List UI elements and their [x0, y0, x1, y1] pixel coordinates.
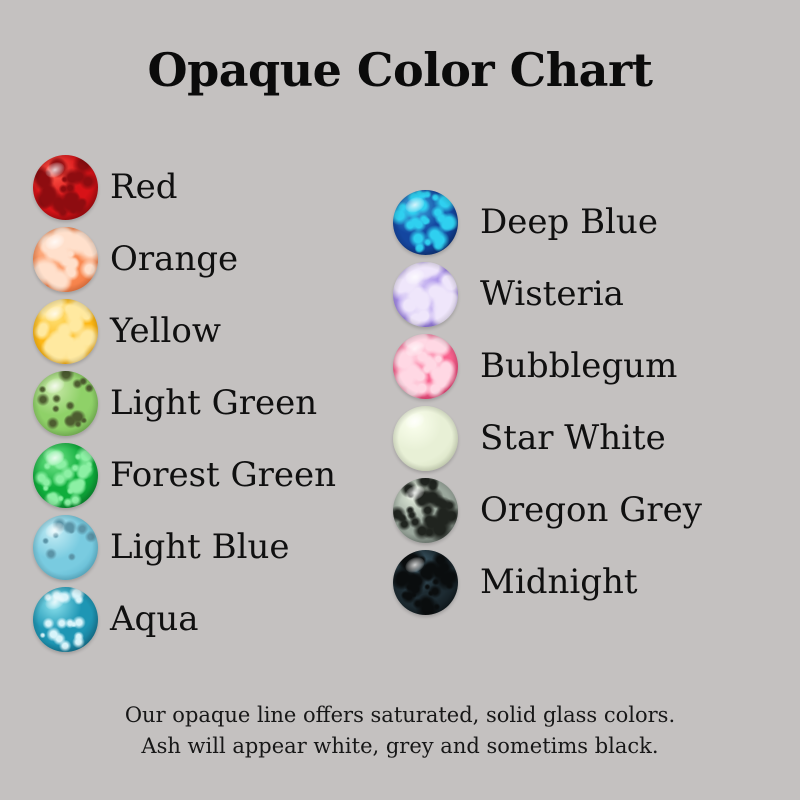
marble-wisteria[interactable]: [393, 262, 458, 327]
footnote-line-2: Ash will appear white, grey and sometims…: [0, 731, 800, 762]
color-name-label: Forest Green: [110, 443, 336, 508]
marble-light-blue[interactable]: [33, 515, 98, 580]
color-name-label: Star White: [480, 406, 666, 471]
color-name-label: Light Green: [110, 371, 317, 436]
color-row[interactable]: Aqua: [33, 587, 383, 659]
marble-red[interactable]: [33, 155, 98, 220]
color-name-label: Red: [110, 155, 178, 220]
color-row[interactable]: Bubblegum: [393, 334, 773, 406]
footnote: Our opaque line offers saturated, solid …: [0, 700, 800, 762]
color-chart-page: Opaque Color Chart RedOrangeYellowLight …: [0, 0, 800, 800]
color-row[interactable]: Red: [33, 155, 383, 227]
color-row[interactable]: Light Green: [33, 371, 383, 443]
marble-aqua[interactable]: [33, 587, 98, 652]
color-name-label: Aqua: [110, 587, 199, 652]
color-row[interactable]: Forest Green: [33, 443, 383, 515]
color-name-label: Yellow: [110, 299, 221, 364]
marble-light-green[interactable]: [33, 371, 98, 436]
color-row[interactable]: Orange: [33, 227, 383, 299]
color-name-label: Bubblegum: [480, 334, 677, 399]
color-row[interactable]: Yellow: [33, 299, 383, 371]
page-title: Opaque Color Chart: [0, 44, 800, 96]
color-row[interactable]: Light Blue: [33, 515, 383, 587]
color-column-left: RedOrangeYellowLight GreenForest GreenLi…: [33, 155, 383, 659]
color-name-label: Oregon Grey: [480, 478, 702, 543]
color-row[interactable]: Wisteria: [393, 262, 773, 334]
marble-star-white[interactable]: [393, 406, 458, 471]
marble-bubblegum[interactable]: [393, 334, 458, 399]
color-name-label: Wisteria: [480, 262, 624, 327]
color-name-label: Orange: [110, 227, 238, 292]
marble-orange[interactable]: [33, 227, 98, 292]
marble-forest-green[interactable]: [33, 443, 98, 508]
color-row[interactable]: Star White: [393, 406, 773, 478]
marble-midnight[interactable]: [393, 550, 458, 615]
marble-oregon-grey[interactable]: [393, 478, 458, 543]
color-name-label: Midnight: [480, 550, 638, 615]
marble-deep-blue[interactable]: [393, 190, 458, 255]
color-column-right: Deep BlueWisteriaBubblegumStar WhiteOreg…: [393, 190, 773, 622]
marble-yellow[interactable]: [33, 299, 98, 364]
footnote-line-1: Our opaque line offers saturated, solid …: [0, 700, 800, 731]
color-name-label: Deep Blue: [480, 190, 658, 255]
color-row[interactable]: Oregon Grey: [393, 478, 773, 550]
color-row[interactable]: Deep Blue: [393, 190, 773, 262]
color-row[interactable]: Midnight: [393, 550, 773, 622]
color-name-label: Light Blue: [110, 515, 289, 580]
